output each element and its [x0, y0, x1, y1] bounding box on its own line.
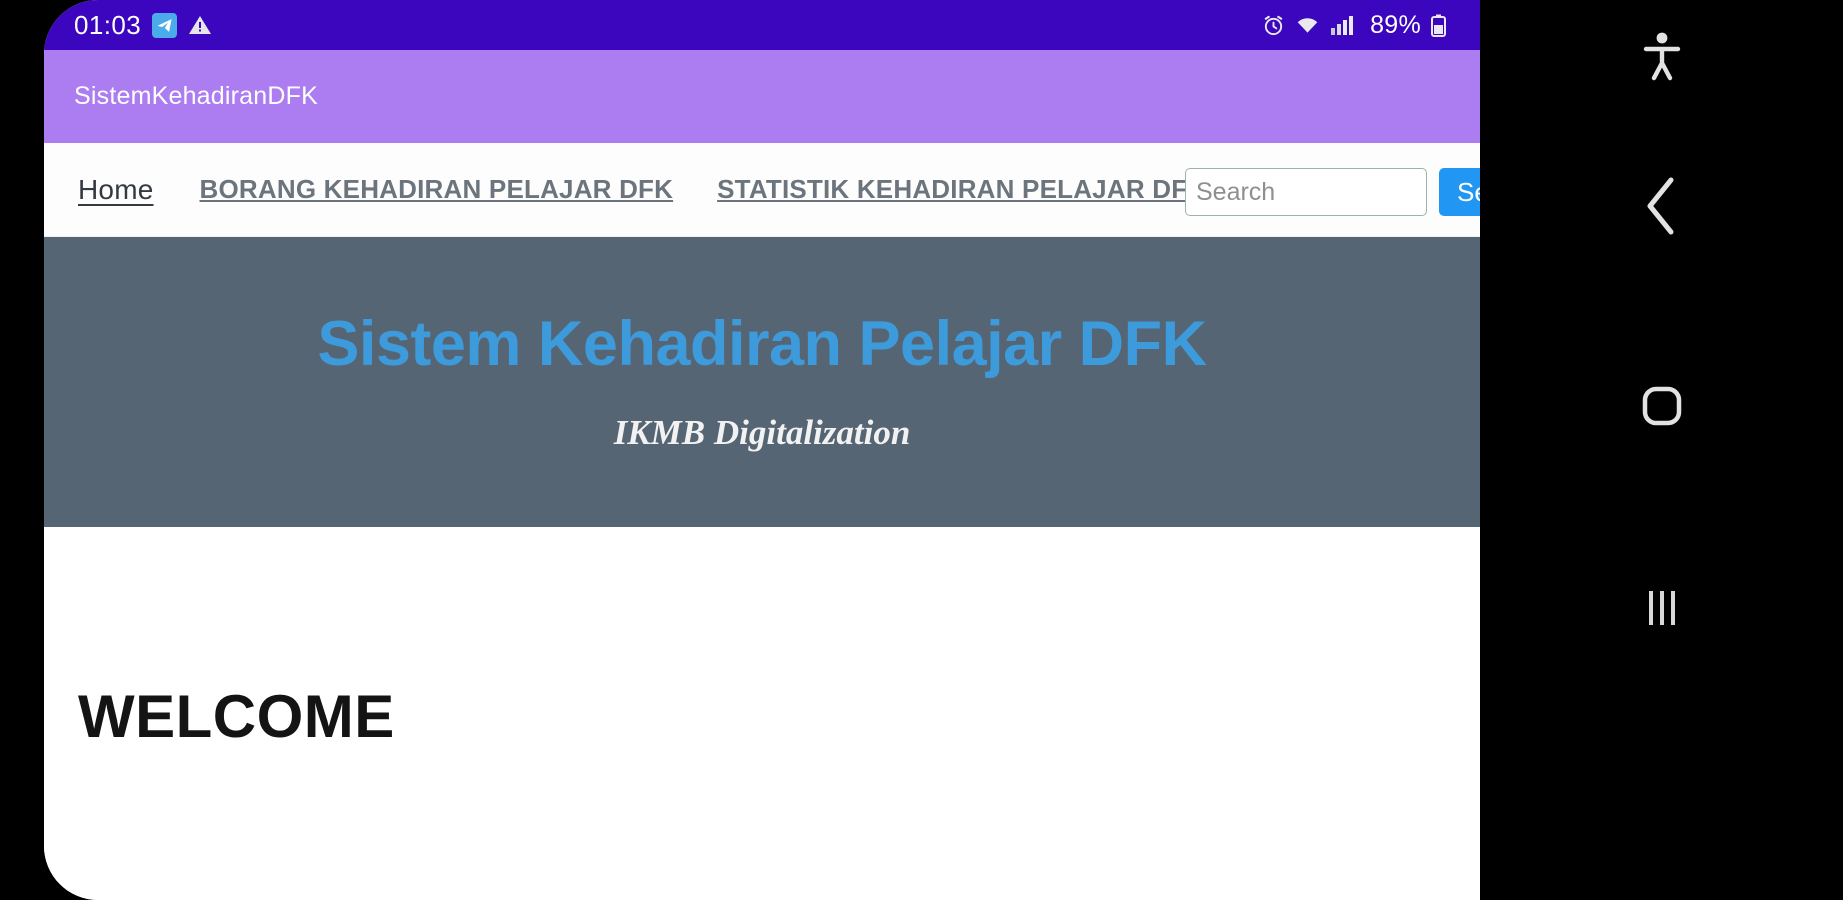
home-circle-icon: [1641, 385, 1683, 432]
recents-bars-icon: [1649, 591, 1675, 625]
back-button[interactable]: [1480, 108, 1843, 308]
status-bar-right: 89%: [1262, 11, 1446, 40]
nav-link-statistik-kehadiran[interactable]: STATISTIK KEHADIRAN PELAJAR DFK: [717, 174, 1206, 205]
telegram-icon: [152, 13, 177, 38]
search-button[interactable]: Search: [1439, 168, 1480, 216]
hero-title: Sistem Kehadiran Pelajar DFK: [317, 311, 1206, 377]
nav-link-home[interactable]: Home: [78, 174, 154, 206]
status-clock: 01:03: [74, 10, 141, 41]
signal-bars-icon: [1330, 14, 1360, 36]
search-form: Search: [1185, 168, 1480, 216]
hero-subtitle: IKMB Digitalization: [614, 413, 911, 453]
home-button[interactable]: [1480, 308, 1843, 508]
chevron-left-icon: [1642, 175, 1682, 242]
welcome-heading: WELCOME: [78, 682, 1480, 751]
alarm-clock-icon: [1262, 14, 1285, 37]
app-title: SistemKehadiranDFK: [74, 82, 318, 111]
battery-icon: [1431, 14, 1446, 37]
wifi-icon: [1295, 14, 1320, 36]
search-input[interactable]: [1185, 168, 1427, 216]
hero-banner: Sistem Kehadiran Pelajar DFK IKMB Digita…: [44, 237, 1480, 527]
site-navbar: Home BORANG KEHADIRAN PELAJAR DFK STATIS…: [44, 143, 1480, 237]
battery-percent-label: 89%: [1370, 11, 1421, 40]
status-bar-left: 01:03: [74, 10, 212, 41]
device-screenshot: 01:03: [0, 0, 1843, 900]
accessibility-button[interactable]: [1480, 8, 1843, 108]
warning-triangle-icon: [188, 13, 212, 37]
browser-title-bar: SistemKehadiranDFK: [44, 50, 1480, 143]
accessibility-icon: [1640, 30, 1684, 87]
android-status-bar: 01:03: [44, 0, 1480, 50]
recents-button[interactable]: [1480, 508, 1843, 708]
android-system-nav: [1480, 0, 1843, 900]
page-content: WELCOME: [44, 527, 1480, 900]
nav-link-borang-kehadiran[interactable]: BORANG KEHADIRAN PELAJAR DFK: [200, 174, 674, 205]
phone-viewport: 01:03: [44, 0, 1480, 900]
